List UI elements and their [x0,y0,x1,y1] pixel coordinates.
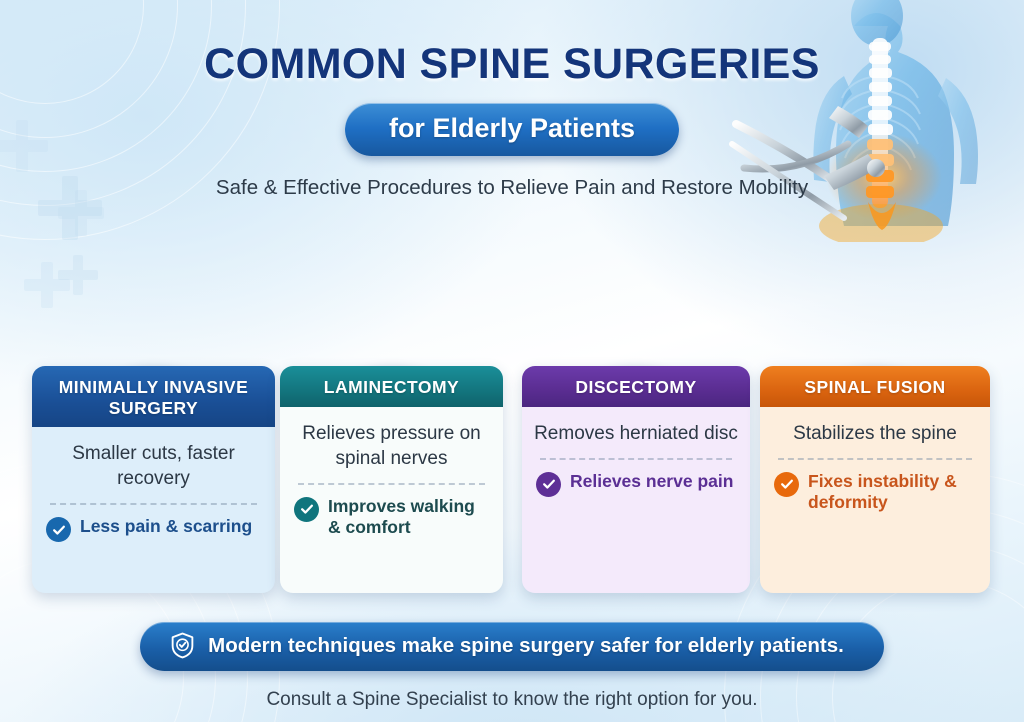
footer-banner-text: Modern techniques make spine surgery saf… [208,634,844,658]
card-description: Relieves pressure on spinal nerves [292,421,491,471]
check-circle-icon [536,472,561,497]
card-benefit-text: Relieves nerve pain [570,471,733,492]
check-circle-icon [46,517,71,542]
card-description: Stabilizes the spine [772,421,978,446]
card-title: LAMINECTOMY [280,366,503,407]
card-divider [298,483,485,485]
card-title: SPINAL FUSION [760,366,990,407]
footer-note: Consult a Spine Specialist to know the r… [0,689,1024,711]
card-divider [540,458,732,460]
card-benefit: Improves walking & comfort [292,496,491,539]
check-circle-icon [774,472,799,497]
card-benefit-text: Improves walking & comfort [328,496,489,539]
subtitle-pill: for Elderly Patients [345,103,679,156]
check-circle-icon [294,497,319,522]
page-title: COMMON SPINE SURGERIES [0,40,1024,89]
card-title: DISCECTOMY [522,366,750,407]
card-divider [778,458,972,460]
procedure-card-laminectomy[interactable]: LAMINECTOMY Relieves pressure on spinal … [280,366,503,593]
tagline: Safe & Effective Procedures to Relieve P… [0,176,1024,200]
card-description: Smaller cuts, faster recovery [44,441,263,491]
card-benefit: Less pain & scarring [44,516,263,542]
card-divider [50,503,257,505]
procedure-card-minimally-invasive-surgery[interactable]: MINIMALLY INVASIVE SURGERY Smaller cuts,… [32,366,275,593]
procedure-card-discectomy[interactable]: DISCECTOMY Removes herniated disc Reliev… [522,366,750,593]
footer: Modern techniques make spine surgery saf… [0,622,1024,711]
card-title: MINIMALLY INVASIVE SURGERY [32,366,275,427]
card-benefit: Fixes instability & deformity [772,471,978,514]
card-benefit-text: Less pain & scarring [80,516,252,537]
card-description: Removes herniated disc [534,421,738,446]
footer-banner: Modern techniques make spine surgery saf… [140,622,884,671]
shield-check-icon [170,632,195,659]
header: COMMON SPINE SURGERIES for Elderly Patie… [0,0,1024,200]
card-benefit-text: Fixes instability & deformity [808,471,976,514]
procedure-card-spinal-fusion[interactable]: SPINAL FUSION Stabilizes the spine Fixes… [760,366,990,593]
card-benefit: Relieves nerve pain [534,471,738,497]
procedure-cards: MINIMALLY INVASIVE SURGERY Smaller cuts,… [0,226,1024,598]
